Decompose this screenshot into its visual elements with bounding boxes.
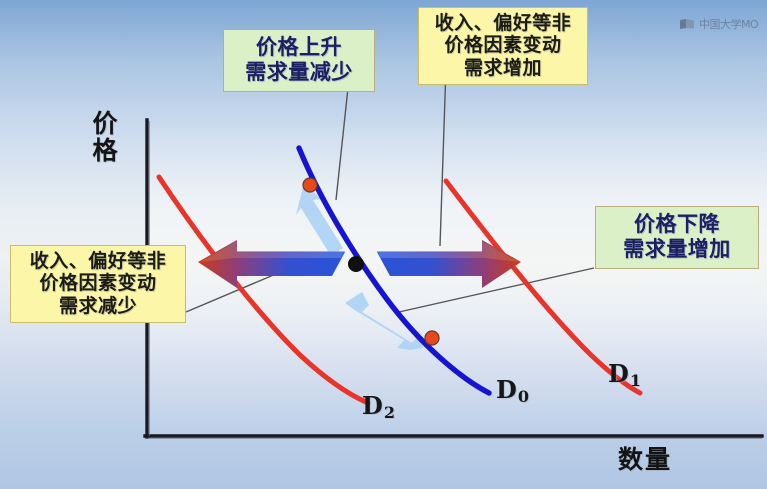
demand-curve-diagram: 价格上升 需求量减少 收入、偏好等非 价格因素变动 需求增加 收入、偏好等非 价…	[0, 0, 767, 489]
chart-axes	[145, 120, 762, 438]
point-equilibrium-black	[348, 256, 364, 272]
curve-label-d2-subscript: 2	[384, 403, 395, 422]
y-axis-label: 价格	[90, 110, 120, 164]
callout-price-up: 价格上升 需求量减少	[223, 29, 375, 92]
callout-price-down: 价格下降 需求量增加	[595, 206, 759, 269]
curve-label-d1-subscript: 1	[630, 371, 641, 390]
curve-label-d0-letter: D	[496, 375, 517, 404]
shift-left-arrow	[198, 240, 345, 288]
x-axis-label: 数量	[618, 440, 672, 476]
curve-label-d0-subscript: 0	[518, 387, 529, 406]
curve-d2	[159, 177, 368, 403]
move-down-arrow	[345, 292, 423, 350]
point-upper-orange	[303, 178, 317, 192]
curve-label-d2: D2	[362, 391, 394, 420]
point-lower-orange	[425, 331, 439, 345]
curve-label-d1: D1	[608, 359, 640, 388]
shift-left-arrow-body	[198, 240, 345, 288]
curve-label-d2-letter: D	[362, 391, 383, 420]
watermark-text: 中国大学MO	[699, 16, 758, 32]
callout-nonprice-increase: 收入、偏好等非 价格因素变动 需求增加	[418, 7, 588, 85]
curve-label-d0: D0	[496, 375, 528, 404]
callout-nonprice-decrease: 收入、偏好等非 价格因素变动 需求减少	[10, 245, 186, 323]
book-icon	[679, 18, 695, 30]
leader-price-up	[336, 88, 348, 200]
watermark: 中国大学MO	[679, 16, 758, 32]
curve-label-d1-letter: D	[608, 359, 629, 388]
leader-nonprice-increase	[440, 68, 446, 246]
